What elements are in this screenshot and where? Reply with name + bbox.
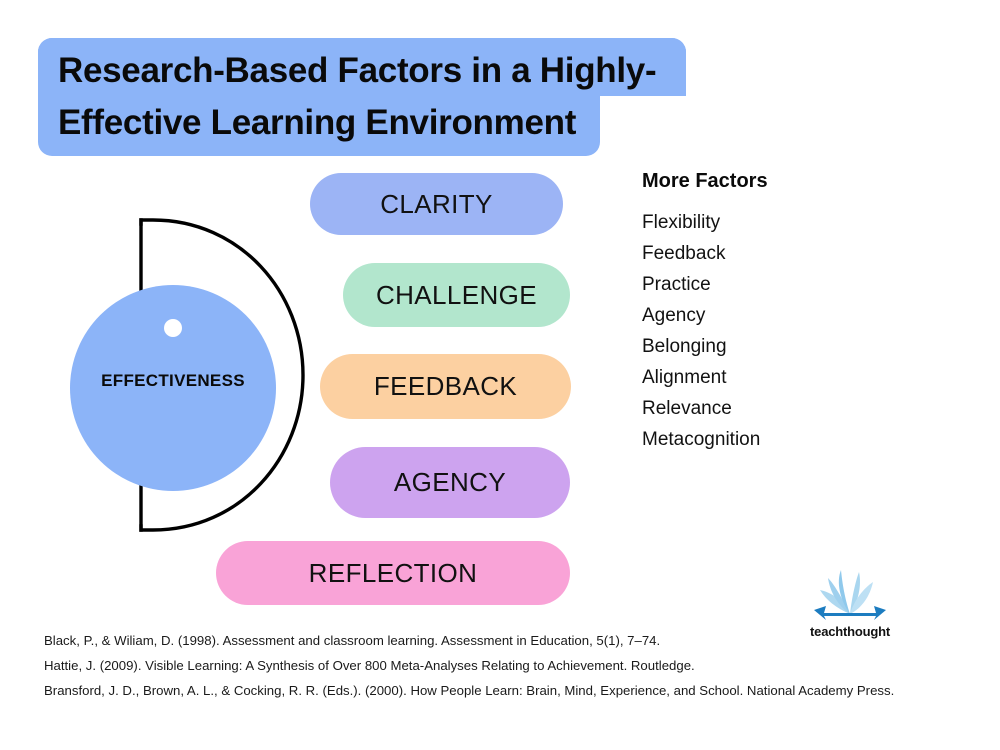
effectiveness-dot-icon (164, 319, 182, 337)
reference-line: Hattie, J. (2009). Visible Learning: A S… (44, 653, 964, 678)
more-factor-item: Feedback (642, 238, 882, 269)
factor-pill-clarity[interactable]: CLARITY (310, 173, 563, 235)
page-title: Research-Based Factors in a Highly- Effe… (58, 45, 698, 149)
logo-leaves (820, 570, 873, 614)
more-factor-item: Relevance (642, 393, 882, 424)
factor-pill-challenge[interactable]: CHALLENGE (343, 263, 570, 327)
more-factor-item: Belonging (642, 331, 882, 362)
more-factors-heading: More Factors (642, 170, 882, 193)
more-factor-item: Practice (642, 269, 882, 300)
more-factor-item: Metacognition (642, 424, 882, 455)
teachthought-logo: teachthought (800, 566, 900, 644)
teachthought-logo-mark (800, 566, 900, 624)
logo-ribbon (814, 606, 886, 620)
page-title-block: Research-Based Factors in a Highly- Effe… (38, 38, 688, 156)
teachthought-wordmark: teachthought (800, 624, 900, 639)
infographic-canvas: Research-Based Factors in a Highly- Effe… (0, 0, 1000, 750)
more-factor-item: Alignment (642, 362, 882, 393)
more-factor-item: Agency (642, 300, 882, 331)
more-factors-panel: More Factors FlexibilityFeedbackPractice… (642, 170, 882, 455)
more-factor-item: Flexibility (642, 207, 882, 238)
reference-line: Bransford, J. D., Brown, A. L., & Cockin… (44, 678, 964, 703)
factor-pill-agency[interactable]: AGENCY (330, 447, 570, 518)
factor-pill-feedback[interactable]: FEEDBACK (320, 354, 571, 419)
more-factors-list: FlexibilityFeedbackPracticeAgencyBelongi… (642, 207, 882, 455)
factor-pill-reflection[interactable]: REFLECTION (216, 541, 570, 605)
effectiveness-label: EFFECTIVENESS (70, 371, 276, 391)
